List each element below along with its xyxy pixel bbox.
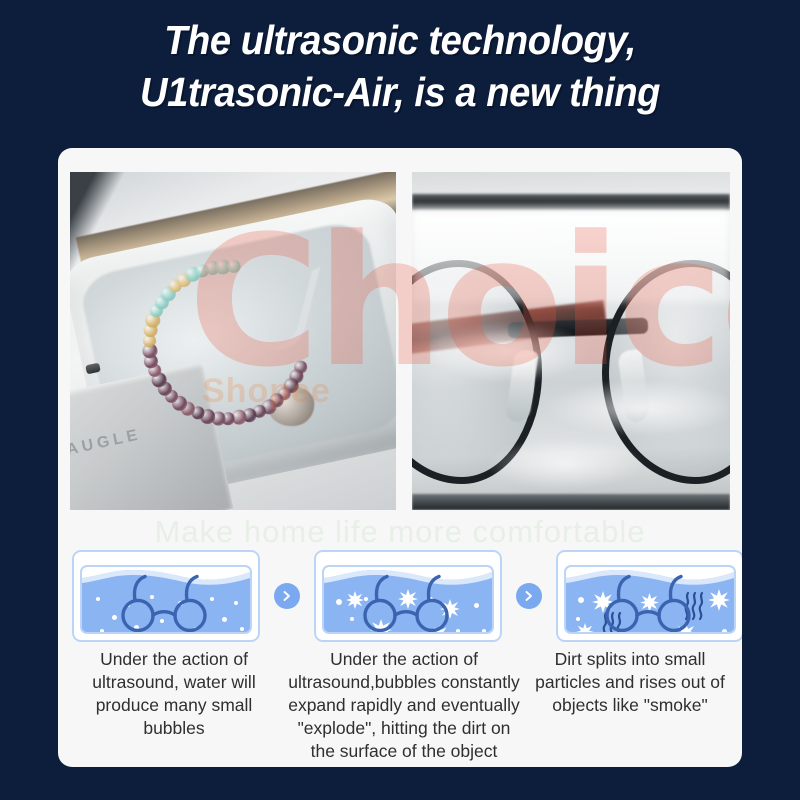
diagram-step-2 [314,550,502,642]
bubble-dot [576,617,580,621]
step-caption-1: Under the action of ultrasound, water wi… [66,648,282,760]
bubble-dot [340,633,345,634]
tank-water-area-2 [322,565,494,634]
tank-water-area-1 [80,565,252,634]
bubble-dot [482,629,486,633]
water-haze-top [412,210,730,302]
diagram-step-3 [556,550,742,642]
bubble-dot [588,633,593,634]
bubble-dot [168,633,172,634]
eyeglasses-icon [598,571,702,633]
bubble-dot [96,597,100,601]
tank-illustration-1 [72,550,260,642]
tank-top-edge [412,194,730,210]
slogan-watermark: Make home life more comfortable [58,514,742,550]
tank-illustration-2 [314,550,502,642]
tank-water-area-3 [564,565,736,634]
eyeglasses-icon [114,571,218,633]
page-title-line-1: The ultrasonic technology, [28,14,772,66]
step-caption-3: Dirt splits into small particles and ris… [526,648,734,760]
bubble-burst-icon [708,589,730,611]
bubble-dot [350,617,354,621]
content-card: AUGLE Choice Shopee Make home life [58,148,742,767]
bubble-dot [100,629,104,633]
bubble-burst-icon [576,623,594,634]
photo-bracelet-in-tank: AUGLE [70,172,396,510]
bubble-dot [336,599,342,605]
diagram-step-1 [72,550,260,642]
bubble-dot [474,603,479,608]
tank-bottom-edge [412,494,730,510]
photo-row: AUGLE Choice Shopee [70,172,730,510]
chevron-right-icon [281,590,293,602]
bubble-dot [234,601,238,605]
page-title-line-2: U1trasonic-Air, is a new thing [28,66,772,118]
photo-eyeglasses-in-tank [412,172,730,510]
process-diagram [72,546,728,646]
tank-illustration-3 [556,550,742,642]
eyeglasses-icon [356,571,460,633]
page-title: The ultrasonic technology, U1trasonic-Ai… [28,14,772,118]
bubble-dot [222,617,227,622]
bubble-dot [722,629,727,634]
caption-row: Under the action of ultrasound, water wi… [66,648,734,760]
step-caption-2: Under the action of ultrasound,bubbles c… [282,648,526,760]
bubble-dot [240,627,244,631]
bubble-dot [578,597,584,603]
chevron-right-icon [523,590,535,602]
step-arrow-2 [516,583,542,609]
step-arrow-1 [274,583,300,609]
